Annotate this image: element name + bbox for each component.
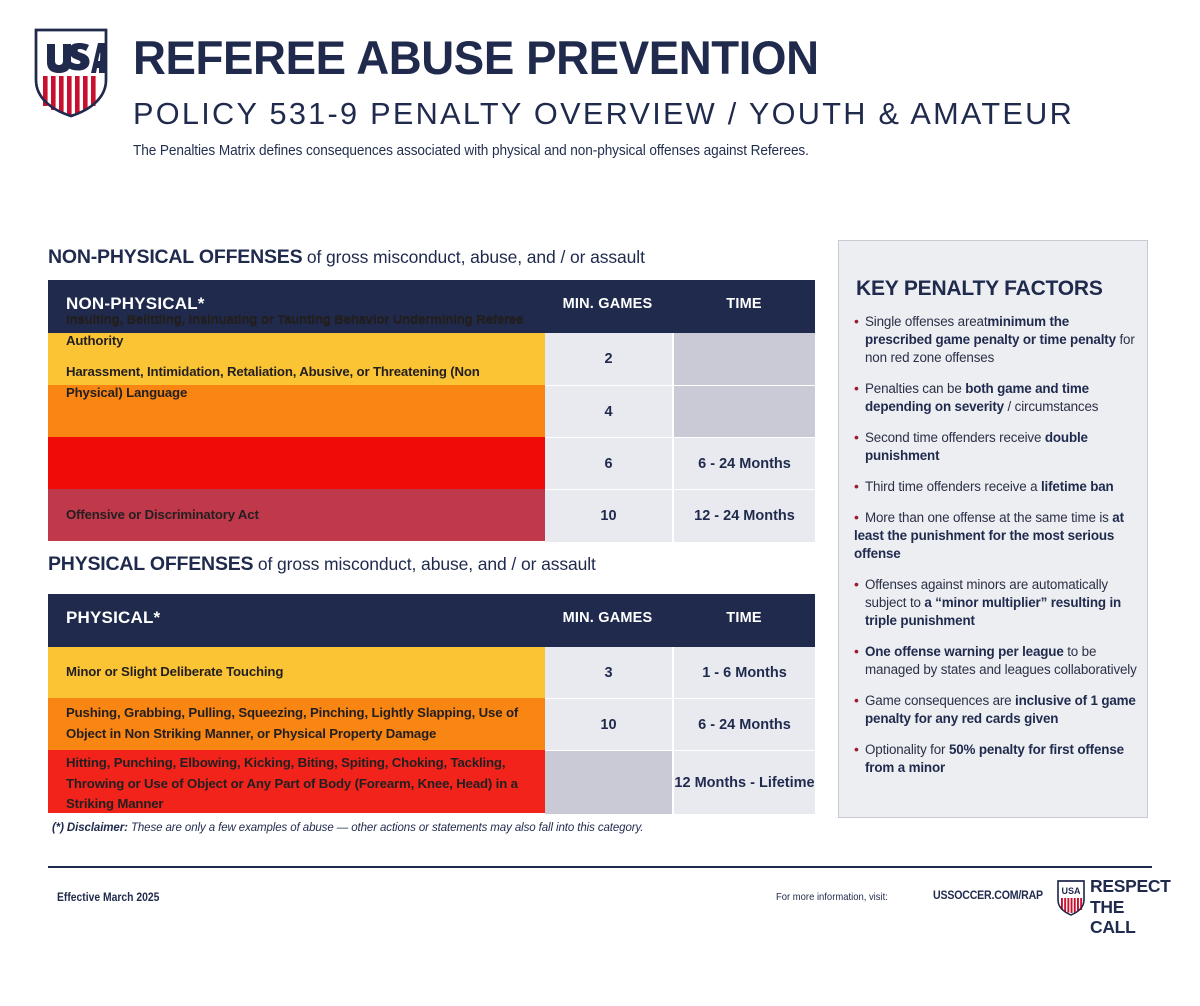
disclaimer-text: These are only a few examples of abuse —… <box>128 822 644 834</box>
column-header-min-games: MIN. GAMES <box>545 610 670 626</box>
key-factor-text: Single offenses areat <box>865 314 987 329</box>
min-games-value: 6 <box>545 437 673 490</box>
key-factor-item: •Single offenses areatminimum the prescr… <box>854 313 1139 367</box>
bullet-icon: • <box>854 312 859 330</box>
min-games-value: 10 <box>545 698 673 751</box>
min-games-value: 4 <box>545 385 673 438</box>
table-row: Harassment, Intimidation, Retaliation, A… <box>48 385 815 437</box>
table-row: Pushing, Grabbing, Pulling, Squeezing, P… <box>48 698 815 750</box>
min-games-value <box>545 750 673 814</box>
time-value <box>674 385 815 438</box>
column-header-time: TIME <box>674 296 814 312</box>
key-factor-item: •Game consequences are inclusive of 1 ga… <box>854 692 1139 728</box>
effective-date: Effective March 2025 <box>57 892 159 904</box>
key-factor-emphasis: One offense warning per league <box>865 644 1064 659</box>
key-factor-item: •One offense warning per league to be ma… <box>854 643 1139 679</box>
column-header-time: TIME <box>674 610 814 626</box>
intro-text: The Penalties Matrix defines consequence… <box>133 143 809 159</box>
key-factor-text: Second time offenders receive <box>865 430 1045 445</box>
bullet-icon: • <box>854 642 859 660</box>
offense-label-clipped: Insulting, Belittling, Insinuating or Ta… <box>66 316 536 330</box>
key-factor-text: More than one offense at the same time i… <box>865 510 1112 525</box>
respect-the-call-text: RESPECT THE CALL <box>1090 876 1171 938</box>
min-games-value: 3 <box>545 647 673 698</box>
page-header: REFEREE ABUSE PREVENTION POLICY 531-9 PE… <box>0 0 1200 182</box>
offense-label: Harassment, Intimidation, Retaliation, A… <box>66 362 536 403</box>
offense-label: Pushing, Grabbing, Pulling, Squeezing, P… <box>66 703 536 744</box>
severity-band <box>48 437 545 489</box>
time-value: 12 - 24 Months <box>674 489 815 542</box>
respect-line-3: CALL <box>1090 917 1171 938</box>
bullet-icon: • <box>854 740 859 758</box>
bullet-icon: • <box>854 379 859 397</box>
key-factor-emphasis: lifetime ban <box>1041 479 1114 494</box>
key-factor-text: Third time offenders receive a <box>865 479 1041 494</box>
usa-soccer-crest-small-icon: USA <box>1057 880 1085 916</box>
column-header-min-games: MIN. GAMES <box>545 296 670 312</box>
bullet-icon: • <box>854 477 859 495</box>
table-row: Offensive or Discriminatory Act 10 12 - … <box>48 489 815 541</box>
key-factor-item: •Penalties can be both game and time dep… <box>854 380 1139 416</box>
disclaimer: (*) Disclaimer: These are only a few exa… <box>52 822 643 834</box>
time-value: 6 - 24 Months <box>674 437 815 490</box>
table-row: Hitting, Punching, Elbowing, Kicking, Bi… <box>48 750 815 813</box>
disclaimer-label: (*) Disclaimer: <box>52 822 128 834</box>
footer-divider <box>48 866 1152 868</box>
bullet-icon: • <box>854 691 859 709</box>
respect-line-2: THE <box>1090 897 1171 918</box>
key-factor-text: Game consequences are <box>865 693 1015 708</box>
clipped-label-overflow: Insulting, Belittling, Insinuating or Ta… <box>66 316 536 330</box>
physical-table-header: PHYSICAL* MIN. GAMES TIME <box>48 594 815 647</box>
usa-soccer-crest-icon <box>34 28 108 118</box>
website-url[interactable]: USSOCCER.COM/RAP <box>933 890 1043 902</box>
page-title: REFEREE ABUSE PREVENTION <box>133 34 1142 81</box>
offense-label: Hitting, Punching, Elbowing, Kicking, Bi… <box>66 753 536 815</box>
title-block: REFEREE ABUSE PREVENTION POLICY 531-9 PE… <box>133 34 1173 129</box>
key-factor-item: •Optionality for 50% penalty for first o… <box>854 741 1139 777</box>
key-factor-text: Optionality for <box>865 742 949 757</box>
time-value: 12 Months - Lifetime <box>674 750 815 814</box>
key-factor-item: •Second time offenders receive double pu… <box>854 429 1139 465</box>
physical-heading-strong: PHYSICAL OFFENSES <box>48 553 253 575</box>
min-games-value: 10 <box>545 489 673 542</box>
nonphysical-heading-light: of gross misconduct, abuse, and / or ass… <box>307 247 645 267</box>
column-header-offense: PHYSICAL* <box>66 608 160 628</box>
table-row: Aggression, Attacking, Derogatory, Cyber… <box>48 437 815 489</box>
svg-text:USA: USA <box>1061 886 1081 896</box>
bullet-icon: • <box>854 575 859 593</box>
respect-line-1: RESPECT <box>1090 876 1171 897</box>
physical-section-heading: PHYSICAL OFFENSES of gross misconduct, a… <box>48 553 596 576</box>
more-info-label: For more information, visit: <box>776 891 888 903</box>
page-subtitle: POLICY 531-9 PENALTY OVERVIEW / YOUTH & … <box>133 98 1163 129</box>
key-factor-item: •Third time offenders receive a lifetime… <box>854 478 1139 496</box>
offense-label: Offensive or Discriminatory Act <box>66 505 536 526</box>
key-factor-item: •Offenses against minors are automatical… <box>854 576 1139 630</box>
physical-heading-light: of gross misconduct, abuse, and / or ass… <box>258 554 596 574</box>
bullet-icon: • <box>854 508 859 526</box>
key-factor-item: •More than one offense at the same time … <box>854 509 1139 563</box>
nonphysical-heading-strong: NON-PHYSICAL OFFENSES <box>48 246 302 268</box>
min-games-value: 2 <box>545 333 673 385</box>
key-penalty-factors-panel: KEY PENALTY FACTORS •Single offenses are… <box>838 240 1148 818</box>
offense-label: Minor or Slight Deliberate Touching <box>66 662 536 683</box>
time-value: 6 - 24 Months <box>674 698 815 751</box>
key-factors-list: •Single offenses areatminimum the prescr… <box>854 313 1139 790</box>
time-value: 1 - 6 Months <box>674 647 815 698</box>
physical-table: PHYSICAL* MIN. GAMES TIME Minor or Sligh… <box>48 594 815 813</box>
key-factor-text: Penalties can be <box>865 381 965 396</box>
table-row: Minor or Slight Deliberate Touching 3 1 … <box>48 647 815 698</box>
key-factor-text: / circumstances <box>1004 399 1098 414</box>
bullet-icon: • <box>854 428 859 446</box>
nonphysical-section-heading: NON-PHYSICAL OFFENSES of gross misconduc… <box>48 246 645 269</box>
time-value <box>674 333 815 385</box>
panel-title: KEY PENALTY FACTORS <box>856 277 1103 301</box>
